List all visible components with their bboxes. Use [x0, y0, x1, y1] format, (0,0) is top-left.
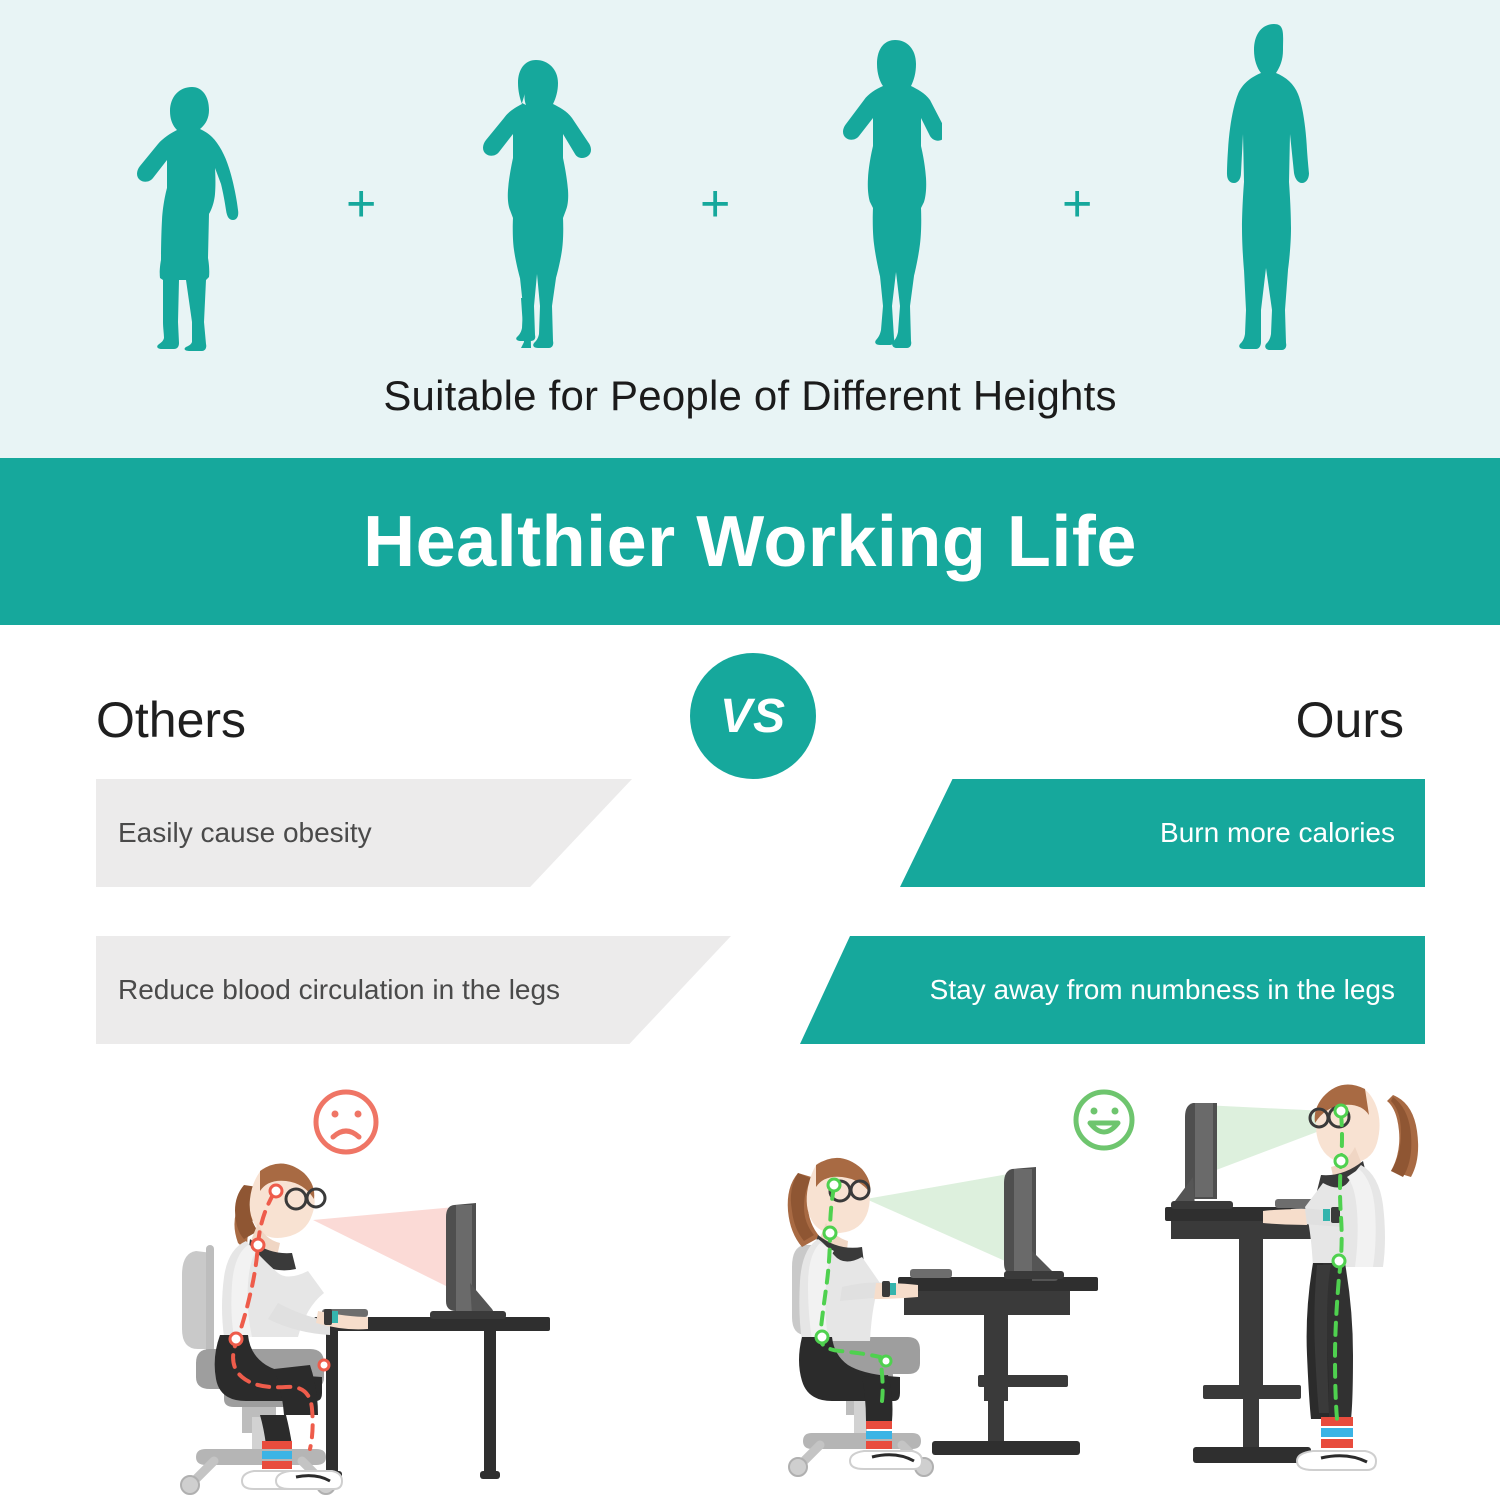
vs-badge: VS: [690, 653, 816, 779]
sitting-upright-at-standing-desk: [770, 1065, 1160, 1500]
computer-monitor: [1004, 1167, 1064, 1281]
ours-callout-1-text: Burn more calories: [1160, 817, 1395, 849]
hero-section: + + + Suitable for People of Different H…: [0, 0, 1500, 458]
plus-separator-2: +: [700, 178, 730, 230]
ours-callout-2-text: Stay away from numbness in the legs: [930, 974, 1395, 1006]
vs-label: VS: [720, 689, 786, 744]
hero-caption: Suitable for People of Different Heights: [0, 372, 1500, 420]
person-slouched: [215, 1163, 368, 1489]
sitting-slouched-at-fixed-desk: [150, 1065, 610, 1500]
tall-woman-silhouette: [840, 38, 942, 352]
fixed-height-desk: [314, 1317, 550, 1479]
banner-section: Healthier Working Life: [0, 458, 1500, 625]
standing-at-standing-desk: [1155, 1065, 1500, 1500]
woman-in-skirt-silhouette: [480, 58, 596, 352]
adjustable-standing-desk: [898, 1277, 1098, 1455]
happy-face-icon: [1076, 1092, 1132, 1148]
others-callout-2-text: Reduce blood circulation in the legs: [118, 974, 560, 1006]
others-callout-1: Easily cause obesity: [96, 779, 632, 887]
sad-face-icon: [316, 1092, 376, 1152]
woman-in-dress-silhouette: [130, 84, 260, 352]
plus-separator-1: +: [346, 178, 376, 230]
ours-callout-2: Stay away from numbness in the legs: [800, 936, 1425, 1044]
man-silhouette: [1218, 22, 1322, 352]
illustration-strip: [0, 1065, 1500, 1500]
page-title: Healthier Working Life: [363, 501, 1137, 583]
ours-callout-1: Burn more calories: [900, 779, 1425, 887]
others-callout-2: Reduce blood circulation in the legs: [96, 936, 731, 1044]
plus-separator-3: +: [1062, 178, 1092, 230]
comparison-section: Others Ours VS Easily cause obesity Redu…: [0, 625, 1500, 1065]
ours-heading: Ours: [1296, 691, 1404, 749]
silhouette-row: + + +: [0, 0, 1500, 370]
others-heading: Others: [96, 691, 246, 749]
others-callout-1-text: Easily cause obesity: [118, 817, 372, 849]
